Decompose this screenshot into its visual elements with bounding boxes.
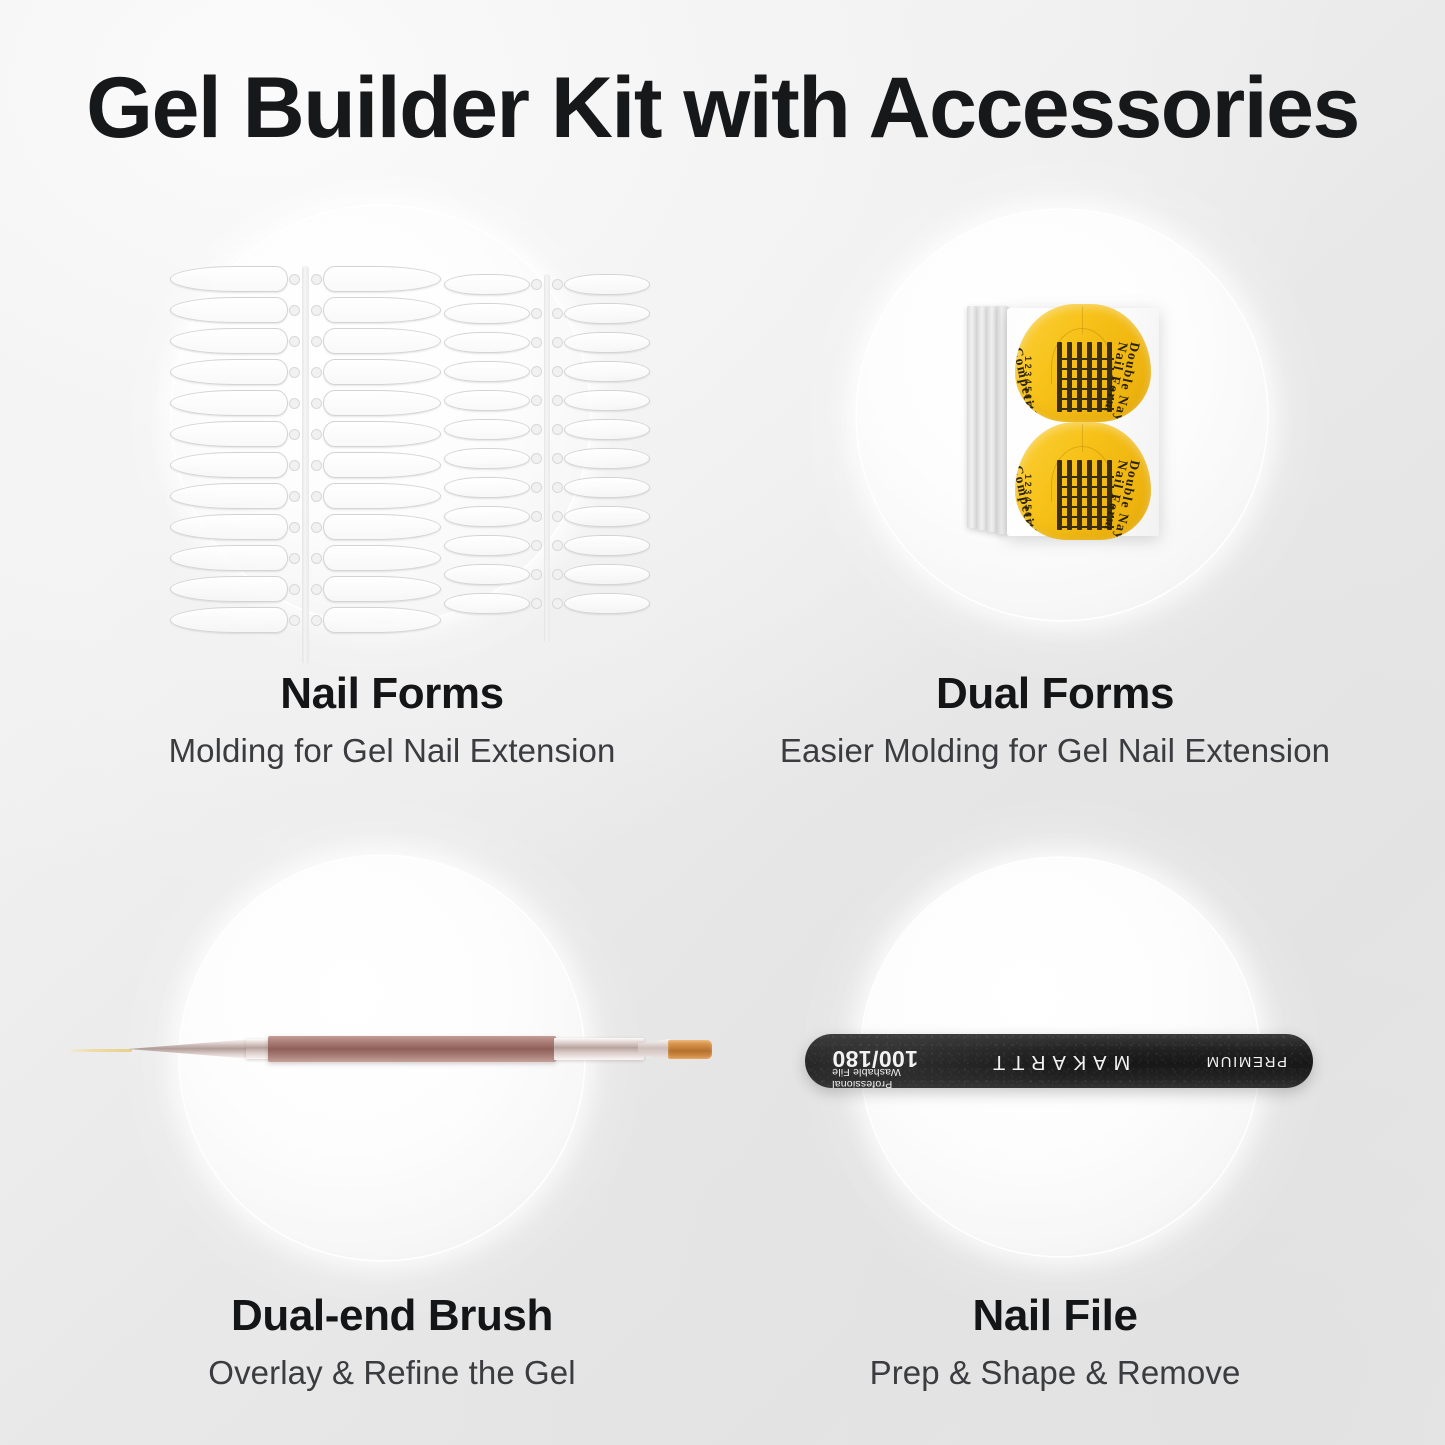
nail-tip: [170, 359, 288, 385]
nail-tip-connector: [531, 598, 542, 609]
dual-forms-title: Dual Forms: [725, 670, 1385, 718]
nail-tip: [323, 545, 441, 571]
nail-tip: [323, 576, 441, 602]
nail-tip-connector: [531, 424, 542, 435]
nail-tip-connector: [311, 367, 322, 378]
nail-tip-connector: [289, 615, 300, 626]
nail-tip: [444, 361, 530, 382]
file-professional-label: Professional: [832, 1078, 892, 1088]
nail-tip-connector: [531, 569, 542, 580]
nail-tip: [170, 576, 288, 602]
form-left-arc-lower: Competitive Edge: [1015, 464, 1051, 540]
nail-tip-connector: [311, 460, 322, 471]
nail-tip: [444, 274, 530, 295]
nail-tip-connector: [311, 336, 322, 347]
nail-tip: [323, 359, 441, 385]
nail-tip: [564, 303, 650, 324]
caption-brush: Dual-end Brush Overlay & Refine the Gel: [62, 1292, 722, 1392]
form-left-arc-upper: Competitive Edge: [1015, 346, 1051, 422]
brush-title: Dual-end Brush: [62, 1292, 722, 1340]
nail-tip-connector: [289, 274, 300, 285]
nail-tip-connector: [311, 274, 322, 285]
page-title: Gel Builder Kit with Accessories: [0, 62, 1445, 155]
nail-tip-connector: [289, 305, 300, 316]
nail-file-product: 100/180 Washable File Professional MAKAR…: [805, 1034, 1313, 1088]
nail-tip-connector: [531, 366, 542, 377]
nail-tip-connector: [311, 522, 322, 533]
nail-tip: [444, 419, 530, 440]
nail-file-subtitle: Prep & Shape & Remove: [725, 1354, 1385, 1392]
nail-tip: [170, 421, 288, 447]
nail-tip: [323, 297, 441, 323]
brush-flat-head: [668, 1040, 712, 1059]
nail-tip-connector: [552, 540, 563, 551]
nail-tip-connector: [552, 279, 563, 290]
nail-tips-rail-small: [440, 274, 680, 646]
nail-tip-connector: [552, 395, 563, 406]
nail-tip-connector: [552, 308, 563, 319]
nail-tip: [444, 535, 530, 556]
nail-tip: [564, 506, 650, 527]
nail-tip: [323, 452, 441, 478]
nail-tip: [170, 297, 288, 323]
nail-tip-connector: [552, 511, 563, 522]
brush-right-ferrule: [554, 1038, 644, 1060]
nail-tip-connector: [289, 553, 300, 564]
nail-tip: [323, 483, 441, 509]
nail-forms-subtitle: Molding for Gel Nail Extension: [62, 732, 722, 770]
nail-tip: [444, 593, 530, 614]
nail-tip-connector: [552, 337, 563, 348]
nail-tip: [444, 332, 530, 353]
nail-tip: [564, 448, 650, 469]
nail-tip: [170, 390, 288, 416]
nail-tip-connector: [531, 511, 542, 522]
nail-tip: [564, 419, 650, 440]
nail-tip-connector: [311, 553, 322, 564]
nail-tip-connector: [552, 424, 563, 435]
nail-form-lower: 1234567 Competitive Edge Double Nay Thic…: [1015, 422, 1151, 540]
nail-tip: [564, 274, 650, 295]
nail-tip: [170, 514, 288, 540]
nail-tip-connector: [552, 453, 563, 464]
nail-tip-connector: [552, 598, 563, 609]
nail-tip: [444, 477, 530, 498]
nail-tip: [444, 448, 530, 469]
nail-tip: [444, 303, 530, 324]
nail-tip: [170, 607, 288, 633]
nail-tip: [323, 266, 441, 292]
nail-tip-connector: [531, 279, 542, 290]
nail-tip: [564, 477, 650, 498]
nail-tip-connector: [289, 336, 300, 347]
nail-tip-connector: [311, 398, 322, 409]
nail-tip-spine: [302, 266, 309, 664]
nail-form-upper: 1234567 Competitive Edge Double Nay Thic…: [1015, 304, 1151, 422]
nail-tip-connector: [552, 482, 563, 493]
section-dual-end-brush: Dual-end Brush Overlay & Refine the Gel: [62, 840, 722, 1420]
brush-subtitle: Overlay & Refine the Gel: [62, 1354, 722, 1392]
nail-tip-connector: [531, 540, 542, 551]
nail-tip: [564, 361, 650, 382]
nail-tip: [170, 266, 288, 292]
nail-tip: [170, 545, 288, 571]
caption-nail-file: Nail File Prep & Shape & Remove: [725, 1292, 1385, 1392]
nail-tips-rail-large: [170, 266, 460, 654]
nail-tip: [323, 390, 441, 416]
file-washable-label: Washable File: [832, 1066, 901, 1078]
nail-tip-connector: [289, 429, 300, 440]
nail-tip-connector: [531, 308, 542, 319]
file-brand-label: MAKARTT: [986, 1050, 1130, 1073]
nail-tip: [323, 328, 441, 354]
nail-tip-connector: [289, 367, 300, 378]
nail-tip-connector: [531, 482, 542, 493]
nail-tip-connector: [289, 522, 300, 533]
nail-tip-connector: [552, 569, 563, 580]
nail-tip-connector: [289, 491, 300, 502]
dual-end-brush-product: [60, 1026, 720, 1076]
nail-tip-connector: [311, 584, 322, 595]
nail-tip: [564, 390, 650, 411]
nail-tip: [444, 506, 530, 527]
brush-handle: [268, 1036, 556, 1062]
nail-tip: [170, 452, 288, 478]
nail-tip: [444, 390, 530, 411]
nail-tip-connector: [311, 491, 322, 502]
nail-tip-connector: [289, 460, 300, 471]
nail-tip-connector: [289, 584, 300, 595]
nail-tip-connector: [289, 398, 300, 409]
infographic-page: Gel Builder Kit with Accessories Nail Fo…: [0, 0, 1445, 1445]
nail-file-title: Nail File: [725, 1292, 1385, 1340]
brush-left-ferrule-cone: [128, 1039, 253, 1059]
nail-tip-connector: [552, 366, 563, 377]
nail-tip: [323, 514, 441, 540]
nail-tip: [170, 328, 288, 354]
section-dual-forms: 1234567 Competitive Edge Double Nay Thic…: [725, 196, 1385, 796]
nail-tip: [323, 607, 441, 633]
nail-forms-title: Nail Forms: [62, 670, 722, 718]
dual-forms-pad-stack: 1234567 Competitive Edge Double Nay Thic…: [967, 306, 1167, 532]
file-premium-label: PREMIUM: [1205, 1053, 1287, 1070]
nail-tip-connector: [311, 305, 322, 316]
nail-tip-connector: [531, 395, 542, 406]
brush-liner-bristle: [70, 1049, 132, 1052]
brush-left-ferrule-ring: [246, 1039, 270, 1059]
nail-tip: [564, 564, 650, 585]
nail-tip-spine: [544, 274, 550, 643]
section-nail-forms: Nail Forms Molding for Gel Nail Extensio…: [62, 196, 722, 796]
nail-tip: [564, 535, 650, 556]
caption-dual-forms: Dual Forms Easier Molding for Gel Nail E…: [725, 670, 1385, 770]
nail-tip: [170, 483, 288, 509]
nail-tip: [323, 421, 441, 447]
nail-tip: [564, 332, 650, 353]
nail-tip: [564, 593, 650, 614]
nail-tip: [444, 564, 530, 585]
nail-tip-connector: [311, 615, 322, 626]
dual-forms-subtitle: Easier Molding for Gel Nail Extension: [725, 732, 1385, 770]
pad-front-face: 1234567 Competitive Edge Double Nay Thic…: [1007, 308, 1159, 536]
nail-tip-connector: [531, 453, 542, 464]
nail-tip-connector: [311, 429, 322, 440]
caption-nail-forms: Nail Forms Molding for Gel Nail Extensio…: [62, 670, 722, 770]
nail-tip-connector: [531, 337, 542, 348]
section-nail-file: 100/180 Washable File Professional MAKAR…: [725, 840, 1385, 1420]
